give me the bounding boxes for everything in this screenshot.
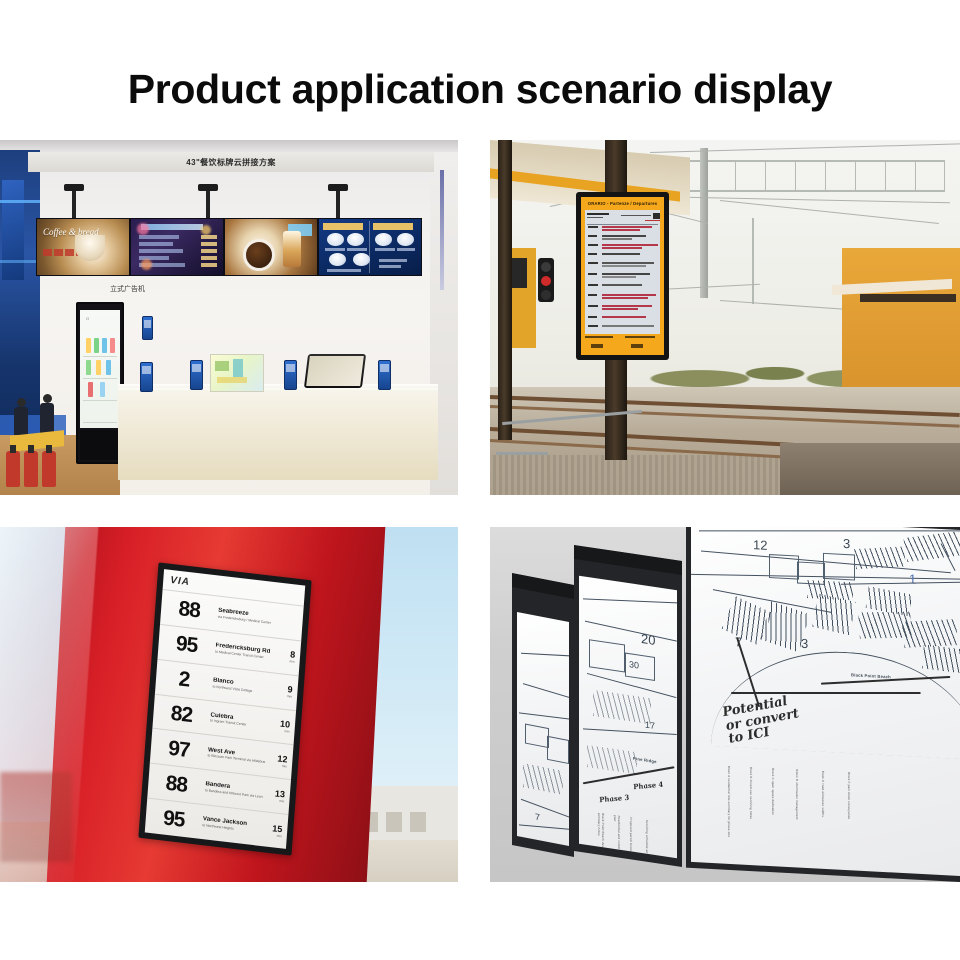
route-eta: 9 min <box>270 683 293 699</box>
menu-board-video-wall: Coffee & bread <box>36 218 420 274</box>
route-eta <box>276 620 298 623</box>
menu-screen-coffee-bread: Coffee & bread <box>36 218 130 276</box>
column-tree-reflection <box>0 772 72 862</box>
display-counter <box>118 388 438 480</box>
signal-light <box>538 258 554 302</box>
booth-blue-banner <box>2 180 24 280</box>
station-building <box>842 248 960 398</box>
via-logo-text: VIA <box>170 574 190 587</box>
menu-screen-dish-grid <box>318 218 422 276</box>
platform-railing <box>496 452 548 455</box>
route-eta: 12 min <box>265 753 288 769</box>
parcel-number: 3 <box>843 536 850 551</box>
fire-extinguisher <box>42 451 56 487</box>
electronic-shelf-label <box>142 316 153 340</box>
booth-caption-bar: 43"餐饮标牌云拼接方案 <box>28 152 434 172</box>
route-eta: 10 min <box>267 718 290 734</box>
booth-photo: 43"餐饮标牌云拼接方案 Coffee & bread <box>0 140 458 495</box>
site-plan-map: 12 3 1 7 3 <box>691 527 960 876</box>
route-destination: Bandera to Bandera and Hillcrest Park vi… <box>202 781 263 800</box>
via-photo: VIA 88 Seabreeze via Fredericksburg / Me… <box>0 527 458 882</box>
via-arrivals-display[interactable]: VIA 88 Seabreeze via Fredericksburg / Me… <box>138 562 311 855</box>
route-number: 97 <box>152 736 205 763</box>
route-destination: Fredericksburg Rd to Medical Center Tran… <box>212 642 273 661</box>
menu-screen-coffee-photo <box>224 218 318 276</box>
canopy-column-left <box>498 140 512 440</box>
electronic-shelf-label <box>140 362 153 392</box>
route-number: 82 <box>155 701 208 728</box>
timetable-header-text: ORARIO - Partenze / Departures <box>588 201 658 206</box>
booth-sub-caption: 立式广告机 <box>110 284 145 294</box>
floor-standing-kiosk: O <box>76 302 124 464</box>
booth-caption-text: 43"餐饮标牌云拼接方案 <box>186 157 276 168</box>
epaper-wall-photo: 7 20 30 <box>490 527 960 882</box>
catenary-truss <box>645 160 945 192</box>
route-number: 95 <box>160 631 213 658</box>
route-destination: Blanco to Northwest Vista College <box>209 677 270 696</box>
booth-light-strip-2 <box>0 260 40 263</box>
gallery-item-railway[interactable]: ORARIO - Partenze / Departures <box>490 140 960 495</box>
railway-photo: ORARIO - Partenze / Departures <box>490 140 960 495</box>
menu-screen-price-list <box>130 218 224 276</box>
gallery-item-epaper-wall[interactable]: 7 20 30 <box>490 527 960 882</box>
epaper-panel-1[interactable]: 7 <box>512 573 574 857</box>
counter-poster-display <box>210 354 264 392</box>
station-timetable-display[interactable]: ORARIO - Partenze / Departures <box>576 192 669 360</box>
route-eta: 8 min <box>273 649 296 665</box>
epaper-panel-3[interactable]: 12 3 1 7 3 <box>686 527 960 882</box>
route-destination: Vance Jackson to Northwest Heights <box>199 816 260 835</box>
epaper-screen-1: 7 <box>517 612 569 846</box>
via-arrival-rows: 88 Seabreeze via Fredericksburg / Medica… <box>145 590 304 849</box>
gallery-item-booth[interactable]: 43"餐饮标牌云拼接方案 Coffee & bread <box>0 140 458 495</box>
epaper-screen-3: 12 3 1 7 3 <box>691 527 960 876</box>
route-number: 95 <box>147 805 200 832</box>
route-number: 88 <box>150 770 203 797</box>
booth-wall-accent <box>440 170 444 290</box>
platform-edge <box>780 443 960 495</box>
parcel-number: 12 <box>753 537 767 553</box>
route-destination: West Ave to Blossom Park Terminal via Hi… <box>204 746 265 765</box>
route-eta: 15 min <box>260 822 283 838</box>
route-destination: Seabreeze via Fredericksburg / Medical C… <box>215 607 276 626</box>
route-eta: 13 min <box>262 788 285 804</box>
parcel-number: 1 <box>909 571 916 586</box>
gallery-item-via-bus-stop[interactable]: VIA 88 Seabreeze via Fredericksburg / Me… <box>0 527 458 882</box>
timetable-footer <box>583 334 662 353</box>
epaper-panel-2[interactable]: 20 30 17 Pine Ridge Phase 3 Phase 4 B <box>574 545 682 867</box>
timetable-body <box>585 210 660 334</box>
electronic-shelf-label <box>284 360 297 390</box>
route-destination: Culebra to Ingram Transit Center <box>207 712 268 731</box>
epaper-screen-2: 20 30 17 Pine Ridge Phase 3 Phase 4 B <box>579 576 677 858</box>
route-number: 2 <box>157 666 210 693</box>
counter-tablet-display <box>304 354 366 388</box>
scenario-gallery: 43"餐饮标牌云拼接方案 Coffee & bread <box>0 140 960 882</box>
electronic-shelf-label <box>378 360 391 390</box>
fire-extinguisher <box>6 451 20 487</box>
booth-light-strip <box>0 200 40 203</box>
route-number: 88 <box>163 597 216 624</box>
page-title: Product application scenario display <box>0 66 960 113</box>
timetable-header: ORARIO - Partenze / Departures <box>581 197 664 210</box>
fire-extinguisher <box>24 451 38 487</box>
electronic-shelf-label <box>190 360 203 390</box>
